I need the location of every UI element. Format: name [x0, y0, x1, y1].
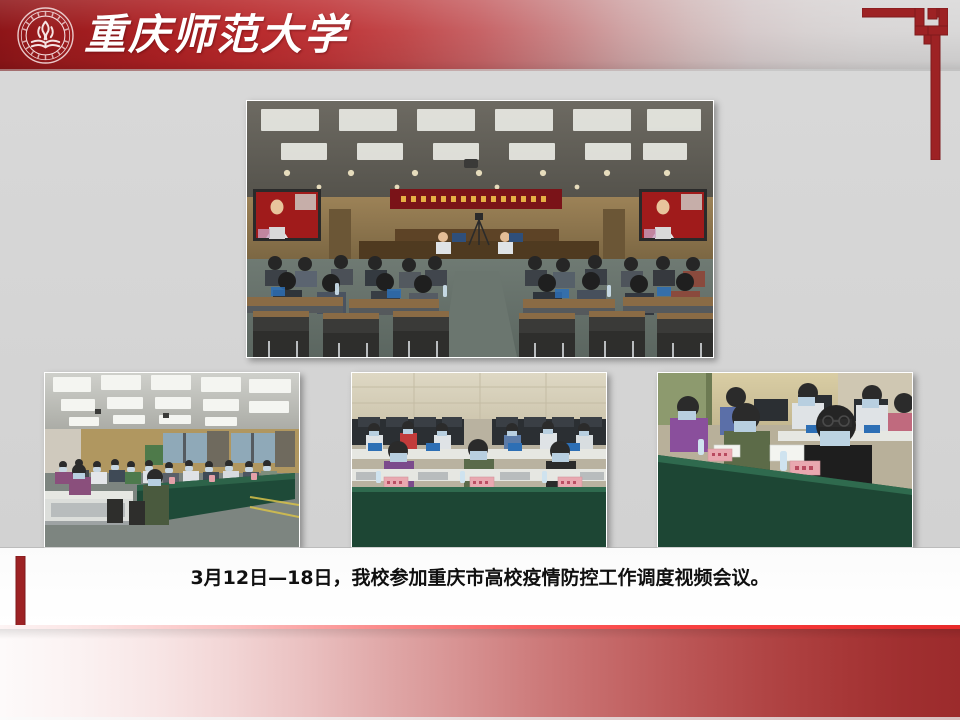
footer-band [0, 629, 960, 718]
large-conference-hall-photo [246, 100, 714, 358]
chinese-meander-corner-ornament-top-right [862, 8, 948, 164]
attendees-taking-notes-photo [657, 372, 913, 548]
university-seal-icon [17, 7, 74, 64]
meeting-room-wide-photo [44, 372, 300, 548]
header-underline [0, 69, 960, 71]
attendees-front-row-photo [351, 372, 607, 548]
slide-root: 重庆师范大学 [0, 0, 960, 720]
university-name: 重庆师范大学 [84, 8, 344, 62]
